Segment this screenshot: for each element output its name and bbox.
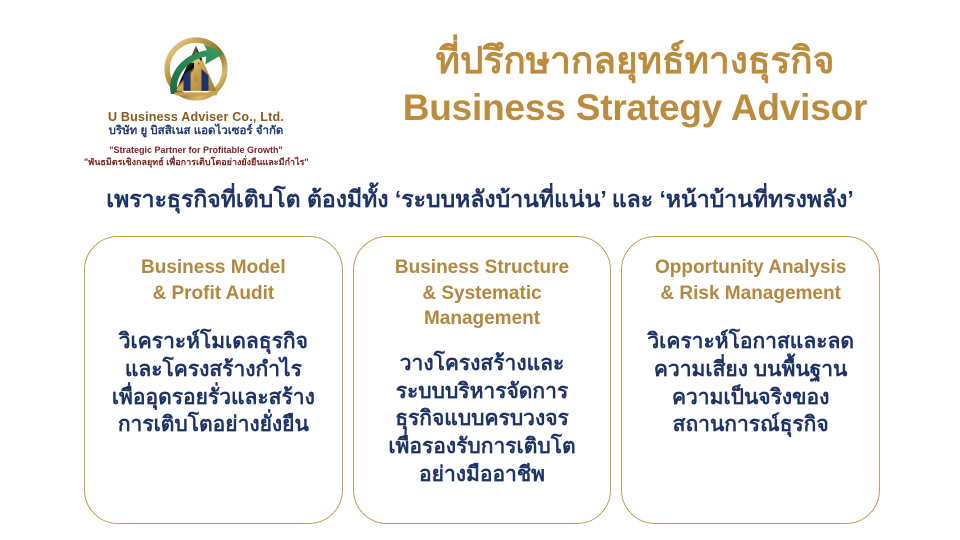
subheadline: เพราะธุรกิจที่เติบโต ต้องมีทั้ง ‘ระบบหลั…: [0, 182, 960, 218]
card-body: วางโครงสร้างและ ระบบบริหารจัดการ ธุรกิจแ…: [388, 350, 575, 489]
company-name-en: U Business Adviser Co., Ltd.: [84, 110, 308, 124]
card-body: วิเคราะห์โอกาสและลด ความเสี่ยง บนพื้นฐาน…: [647, 328, 854, 439]
headline-english: Business Strategy Advisor: [330, 85, 940, 130]
service-card-opportunity-analysis: Opportunity Analysis & Risk Management ว…: [621, 236, 880, 524]
headline-thai: ที่ปรึกษากลยุทธ์ทางธุรกิจ: [330, 38, 940, 83]
card-title: Business Model & Profit Audit: [141, 255, 286, 306]
brand-block: U Business Adviser Co., Ltd. บริษัท ยู บ…: [84, 30, 308, 169]
headline-block: ที่ปรึกษากลยุทธ์ทางธุรกิจ Business Strat…: [330, 38, 940, 130]
slide-canvas: U Business Adviser Co., Ltd. บริษัท ยู บ…: [0, 0, 960, 540]
company-logo-icon: [148, 30, 244, 108]
service-card-business-structure: Business Structure & Systematic Manageme…: [353, 236, 612, 524]
card-body: วิเคราะห์โมเดลธุรกิจ และโครงสร้างกำไร เพ…: [112, 328, 315, 439]
tagline-en: "Strategic Partner for Profitable Growth…: [84, 145, 308, 156]
card-title: Opportunity Analysis & Risk Management: [655, 255, 846, 306]
service-cards-row: Business Model & Profit Audit วิเคราะห์โ…: [84, 236, 880, 524]
service-card-business-model: Business Model & Profit Audit วิเคราะห์โ…: [84, 236, 343, 524]
tagline-th: "พันธมิตรเชิงกลยุทธ์ เพื่อการเติบโตอย่าง…: [84, 157, 308, 168]
company-name-th: บริษัท ยู บิสสิเนส แอดไวเซอร์ จำกัด: [84, 125, 308, 139]
card-title: Business Structure & Systematic Manageme…: [395, 255, 569, 332]
